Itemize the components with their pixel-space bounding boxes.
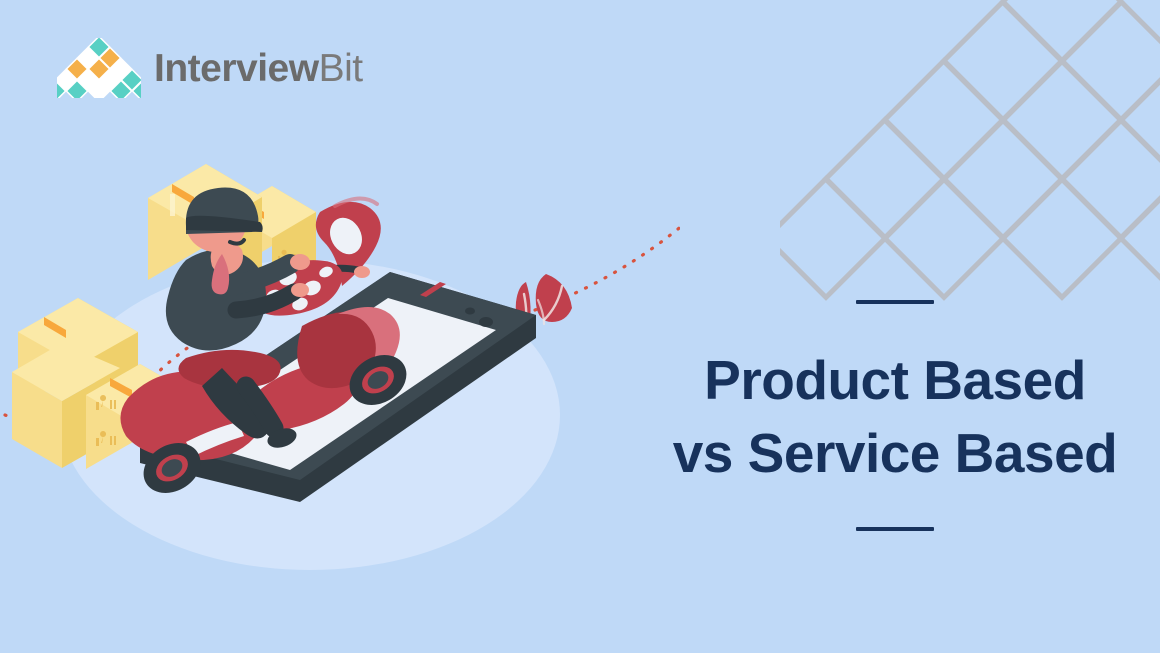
logo-text-interview: Interview: [154, 49, 319, 88]
title-rule-top: [856, 300, 934, 304]
title-block: Product Based vs Service Based: [660, 300, 1130, 531]
banner: InterviewBit: [0, 0, 1160, 653]
logo-wordmark: InterviewBit: [154, 49, 363, 88]
title-rule-bottom: [856, 527, 934, 531]
diamond-grid-pattern-icon: [780, 0, 1160, 350]
delivery-scooter-on-phone-illustration: [0, 150, 680, 620]
logo-text-bit: Bit: [319, 49, 363, 88]
diamond-pyramid-logo-icon: [57, 38, 141, 98]
page-title-line-1: Product Based: [660, 344, 1130, 417]
logo[interactable]: InterviewBit: [57, 38, 363, 98]
page-title-line-2: vs Service Based: [660, 417, 1130, 490]
page-title: Product Based vs Service Based: [660, 344, 1130, 489]
